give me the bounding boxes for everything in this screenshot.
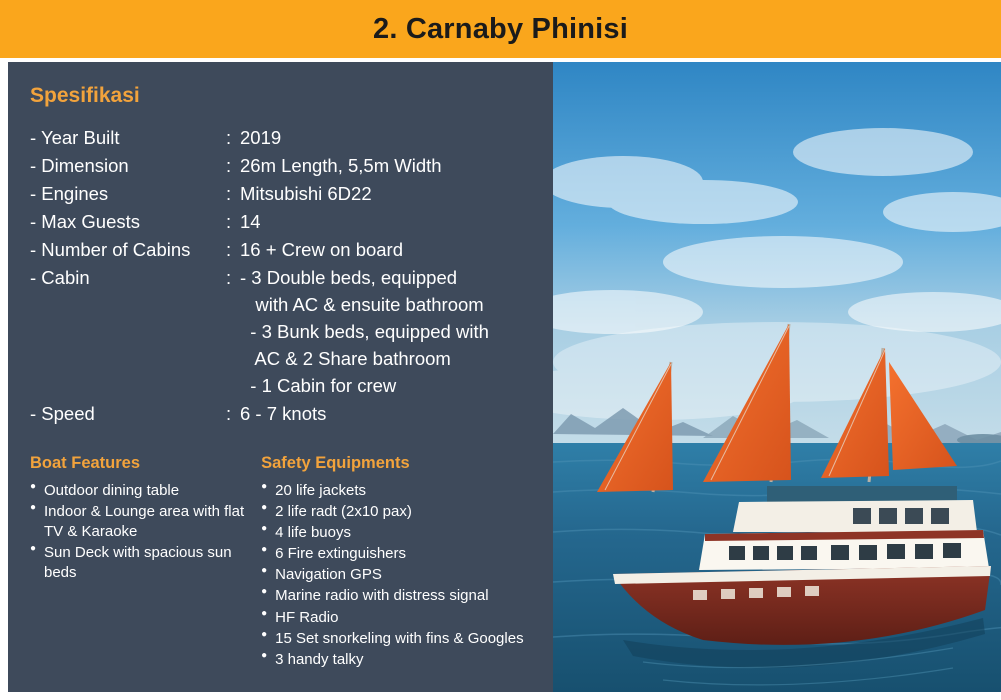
- spec-label: - Number of Cabins: [30, 236, 226, 264]
- slide-page: 2. Carnaby Phinisi Spesifikasi - Year Bu…: [0, 0, 1001, 700]
- spec-colon: :: [226, 264, 240, 400]
- safety-equipments-heading: Safety Equipments: [261, 454, 550, 473]
- spec-label: - Max Guests: [30, 208, 226, 236]
- spec-colon: :: [226, 180, 240, 208]
- list-item: HF Radio: [261, 608, 550, 628]
- table-row: - Speed : 6 - 7 knots: [30, 400, 489, 428]
- spec-colon: :: [226, 152, 240, 180]
- spec-label: - Dimension: [30, 152, 226, 180]
- spec-label: - Year Built: [30, 124, 226, 152]
- list-item: Sun Deck with spacious sun beds: [30, 543, 261, 583]
- table-row: - Cabin : - 3 Double beds, equipped with…: [30, 264, 489, 400]
- table-row: - Number of Cabins : 16 + Crew on board: [30, 236, 489, 264]
- list-item: Navigation GPS: [261, 565, 550, 585]
- header-bar: 2. Carnaby Phinisi: [0, 0, 1001, 58]
- spec-colon: :: [226, 208, 240, 236]
- list-item: Outdoor dining table: [30, 481, 261, 501]
- spec-value: Mitsubishi 6D22: [240, 180, 489, 208]
- boat-features-column: Boat Features Outdoor dining table Indoo…: [30, 454, 261, 671]
- spec-label: - Engines: [30, 180, 226, 208]
- spec-label: - Cabin: [30, 264, 226, 400]
- spec-label: - Speed: [30, 400, 226, 428]
- table-row: - Engines : Mitsubishi 6D22: [30, 180, 489, 208]
- safety-equipments-column: Safety Equipments 20 life jackets 2 life…: [261, 454, 550, 671]
- boat-features-heading: Boat Features: [30, 454, 261, 473]
- list-item: 15 Set snorkeling with fins & Googles: [261, 629, 550, 649]
- table-row: - Year Built : 2019: [30, 124, 489, 152]
- specification-panel: Spesifikasi - Year Built : 2019 - Dimens…: [8, 62, 553, 692]
- table-row: - Dimension : 26m Length, 5,5m Width: [30, 152, 489, 180]
- boat-features-list: Outdoor dining table Indoor & Lounge are…: [30, 481, 261, 583]
- page-title: 2. Carnaby Phinisi: [373, 13, 628, 46]
- list-item: 3 handy talky: [261, 650, 550, 670]
- list-item: 2 life radt (2x10 pax): [261, 502, 550, 522]
- spec-value: 16 + Crew on board: [240, 236, 489, 264]
- spec-value: - 3 Double beds, equipped with AC & ensu…: [240, 264, 489, 400]
- spec-colon: :: [226, 236, 240, 264]
- spec-value: 2019: [240, 124, 489, 152]
- spec-value: 6 - 7 knots: [240, 400, 489, 428]
- list-item: 6 Fire extinguishers: [261, 544, 550, 564]
- spec-colon: :: [226, 124, 240, 152]
- spec-colon: :: [226, 400, 240, 428]
- spec-value: 14: [240, 208, 489, 236]
- list-item: Marine radio with distress signal: [261, 586, 550, 606]
- spesifikasi-heading: Spesifikasi: [30, 84, 553, 108]
- list-item: Indoor & Lounge area with flat TV & Kara…: [30, 502, 261, 542]
- boat-photo: [553, 62, 1001, 692]
- safety-equipments-list: 20 life jackets 2 life radt (2x10 pax) 4…: [261, 481, 550, 670]
- list-item: 4 life buoys: [261, 523, 550, 543]
- table-row: - Max Guests : 14: [30, 208, 489, 236]
- features-row: Boat Features Outdoor dining table Indoo…: [30, 454, 550, 671]
- specification-table: - Year Built : 2019 - Dimension : 26m Le…: [30, 124, 489, 428]
- list-item: 20 life jackets: [261, 481, 550, 501]
- spec-value: 26m Length, 5,5m Width: [240, 152, 489, 180]
